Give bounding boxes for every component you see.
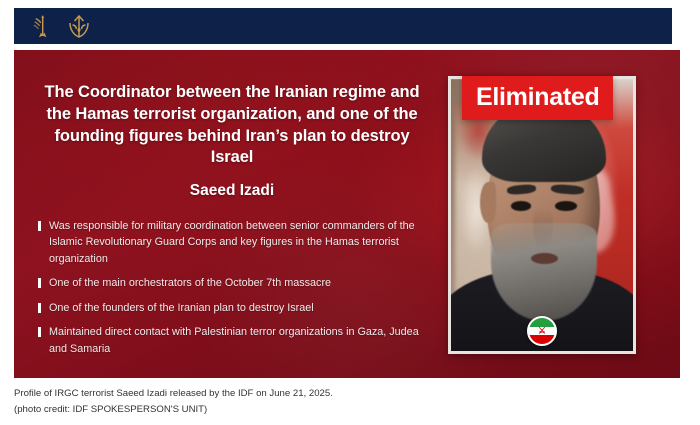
list-item-text: Maintained direct contact with Palestini…	[49, 326, 419, 354]
bullet-marker-icon	[38, 303, 41, 313]
bullet-marker-icon	[38, 221, 41, 231]
iran-missile-emblem	[30, 12, 56, 40]
list-item-text: One of the founders of the Iranian plan …	[49, 302, 314, 314]
list-item: Maintained direct contact with Palestini…	[38, 324, 430, 357]
caption-line-2: (photo credit: IDF SPOKESPERSON'S UNIT)	[14, 402, 674, 418]
subject-name: Saeed Izadi	[14, 169, 446, 200]
photo-ear	[480, 182, 496, 223]
header-bar	[14, 8, 672, 44]
list-item: One of the founders of the Iranian plan …	[38, 300, 430, 316]
caption: Profile of IRGC terrorist Saeed Izadi re…	[14, 386, 674, 418]
list-item-text: One of the main orchestrators of the Oct…	[49, 277, 331, 289]
idf-emblem	[66, 12, 92, 40]
fact-list: Was responsible for military coordinatio…	[14, 200, 446, 357]
photo-eye-right	[555, 201, 577, 210]
page-title: The Coordinator between the Iranian regi…	[14, 50, 446, 169]
bullet-marker-icon	[38, 278, 41, 288]
card-text-column: The Coordinator between the Iranian regi…	[14, 50, 446, 378]
iran-flag-badge: ⚔	[527, 316, 557, 346]
photo-mouth	[531, 253, 558, 264]
bullet-marker-icon	[38, 327, 41, 337]
iran-emblem-icon: ⚔	[538, 327, 546, 336]
status-badge: Eliminated	[462, 76, 613, 120]
page-root: The Coordinator between the Iranian regi…	[0, 0, 700, 425]
list-item: Was responsible for military coordinatio…	[38, 218, 430, 267]
profile-card: The Coordinator between the Iranian regi…	[14, 50, 680, 378]
list-item-text: Was responsible for military coordinatio…	[49, 220, 415, 265]
flag-stripe-red	[529, 335, 555, 344]
caption-line-1: Profile of IRGC terrorist Saeed Izadi re…	[14, 386, 674, 402]
list-item: One of the main orchestrators of the Oct…	[38, 275, 430, 291]
photo-eye-left	[511, 201, 531, 210]
